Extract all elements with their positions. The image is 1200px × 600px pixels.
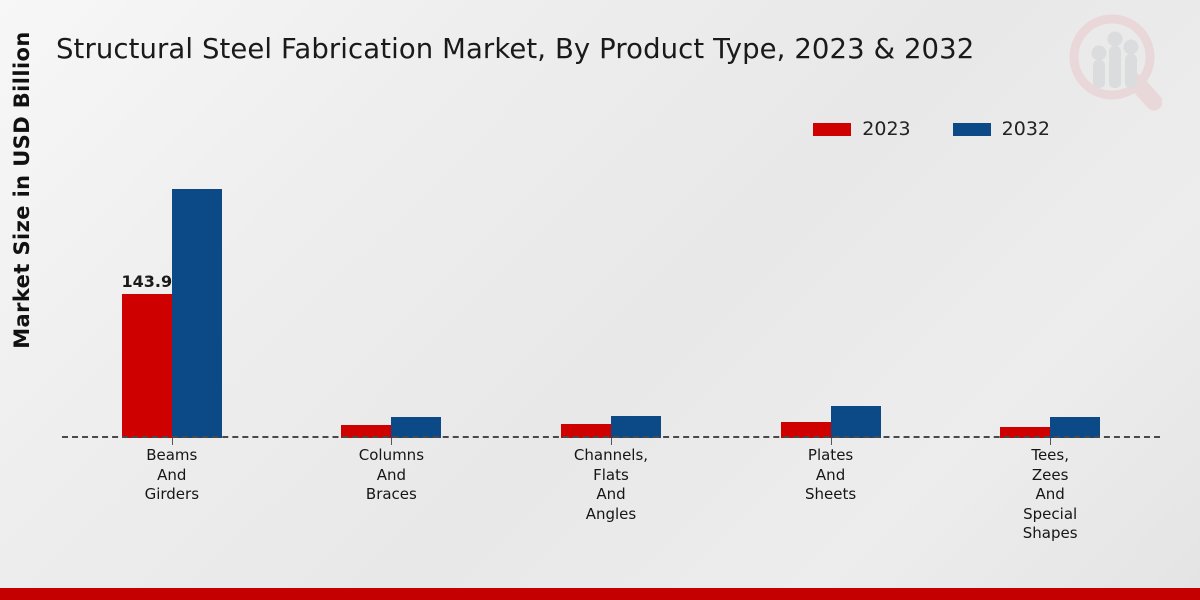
x-axis-label-4: Tees,ZeesAndSpecialShapes [940,446,1160,544]
bar-group-2 [501,160,721,438]
chart-title: Structural Steel Fabrication Market, By … [56,33,974,65]
x-tick-4 [1050,438,1051,445]
y-axis-title: Market Size in USD Billion [10,25,34,355]
watermark-logo-icon [1066,12,1162,116]
x-tick-1 [391,438,392,445]
x-tick-0 [172,438,173,445]
bar-group-1 [282,160,502,438]
bar-2032-3[interactable] [831,406,881,438]
legend-swatch-2023 [813,123,851,136]
x-axis-labels: BeamsAndGirders ColumnsAndBraces Channel… [62,446,1160,544]
bar-2032-1[interactable] [391,417,441,438]
legend-label-2023: 2023 [862,120,910,139]
bar-group-4 [940,160,1160,438]
bar-group-0: 143.9 [62,160,282,438]
x-axis-label-1: ColumnsAndBraces [282,446,502,544]
bar-2032-4[interactable] [1050,417,1100,438]
plot-area: 143.9 [62,160,1160,438]
x-axis-label-0: BeamsAndGirders [62,446,282,544]
chart-page: Structural Steel Fabrication Market, By … [0,0,1200,600]
x-axis-label-3: PlatesAndSheets [721,446,941,544]
axis-baseline [62,436,1160,438]
bar-group-3 [721,160,941,438]
bar-2032-2[interactable] [611,416,661,438]
x-axis-label-2: Channels,FlatsAndAngles [501,446,721,544]
chart-legend: 2023 2032 [813,120,1050,139]
footer-accent-strip [0,588,1200,600]
bar-2032-0[interactable] [172,189,222,438]
x-tick-3 [831,438,832,445]
bar-2023-0[interactable]: 143.9 [122,294,172,438]
legend-item-2032[interactable]: 2032 [953,120,1050,139]
legend-item-2023[interactable]: 2023 [813,120,910,139]
x-tick-2 [611,438,612,445]
bar-value-label-0: 143.9 [121,272,172,291]
legend-label-2032: 2032 [1002,120,1050,139]
bar-groups: 143.9 [62,160,1160,438]
legend-swatch-2032 [953,123,991,136]
